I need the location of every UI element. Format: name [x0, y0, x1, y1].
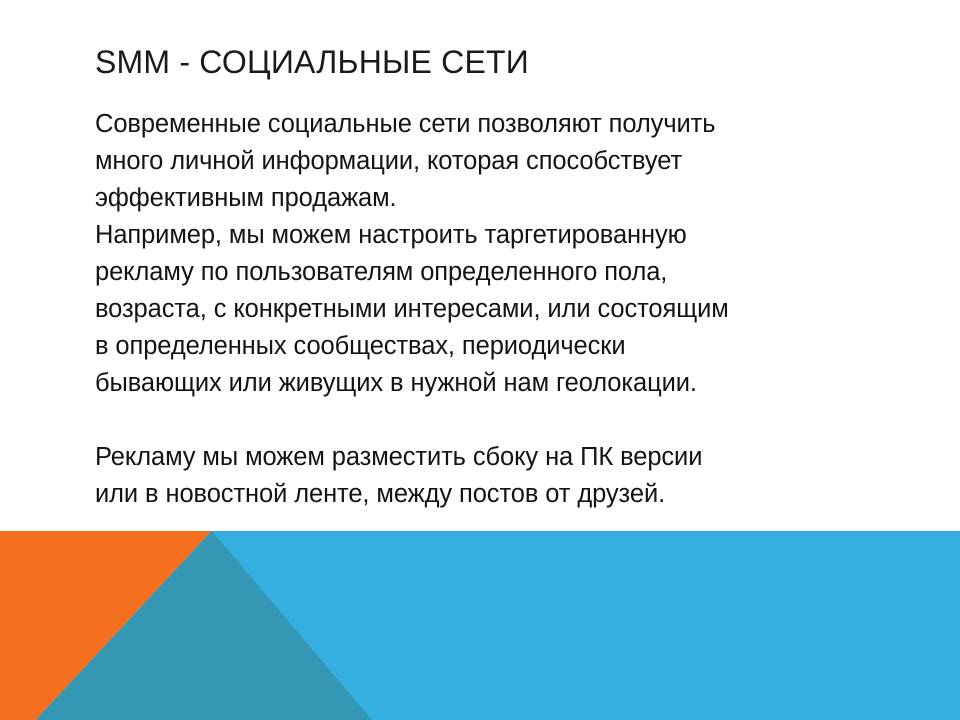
- body-line: много личной информации, которая способс…: [95, 143, 895, 180]
- body-text-block: Современные социальные сети позволяют по…: [95, 106, 895, 513]
- paragraph-1: Современные социальные сети позволяют по…: [95, 106, 895, 402]
- paragraph-spacer: [95, 402, 895, 439]
- body-line: Например, мы можем настроить таргетирова…: [95, 217, 895, 254]
- body-line: бывающих или живущих в нужной нам геолок…: [95, 365, 895, 402]
- body-line: рекламу по пользователям определенного п…: [95, 254, 895, 291]
- page-title: SMM - СОЦИАЛЬНЫЕ СЕТИ: [95, 42, 895, 82]
- slide-canvas: SMM - СОЦИАЛЬНЫЕ СЕТИ Современные социал…: [0, 0, 960, 720]
- body-line: Рекламу мы можем разместить сбоку на ПК …: [95, 439, 895, 476]
- body-line: или в новостной ленте, между постов от д…: [95, 476, 895, 513]
- footer-decoration-band: [0, 531, 960, 720]
- body-line: Современные социальные сети позволяют по…: [95, 106, 895, 143]
- body-line: в определенных сообществах, периодически: [95, 328, 895, 365]
- footer-chevron-graphic: [0, 531, 960, 720]
- body-line: эффективным продажам.: [95, 180, 895, 217]
- paragraph-2: Рекламу мы можем разместить сбоку на ПК …: [95, 439, 895, 513]
- body-line: возраста, с конкретными интересами, или …: [95, 291, 895, 328]
